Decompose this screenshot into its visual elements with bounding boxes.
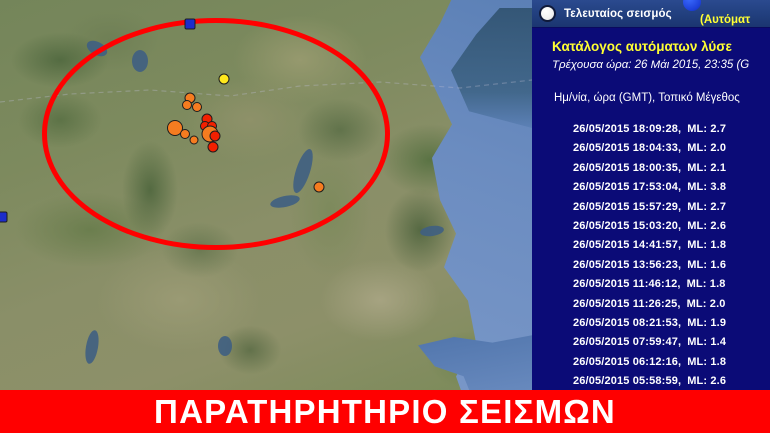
quake-datetime: 26/05/2015 06:12:16, bbox=[573, 356, 681, 368]
quake-list-item[interactable]: 26/05/2015 05:58:59,ML: 2.6 bbox=[573, 372, 770, 390]
quake-magnitude: ML: 1.4 bbox=[687, 336, 726, 348]
quake-magnitude: ML: 3.8 bbox=[687, 181, 726, 193]
last-quake-radio-icon[interactable] bbox=[539, 5, 556, 22]
quake-list[interactable]: 26/05/2015 18:09:28,ML: 2.726/05/2015 18… bbox=[532, 120, 770, 390]
quake-datetime: 26/05/2015 15:57:29, bbox=[573, 201, 681, 213]
quake-marker-orange-6[interactable] bbox=[190, 136, 199, 145]
quake-marker-orange-5[interactable] bbox=[180, 129, 190, 139]
quake-datetime: 26/05/2015 11:46:12, bbox=[573, 278, 681, 290]
quake-datetime: 26/05/2015 17:53:04, bbox=[573, 181, 681, 193]
quake-datetime: 26/05/2015 05:58:59, bbox=[573, 375, 681, 387]
quake-marker-blue-north[interactable] bbox=[185, 19, 196, 30]
quake-list-item[interactable]: 26/05/2015 18:00:35,ML: 2.1 bbox=[573, 159, 770, 178]
quake-list-item[interactable]: 26/05/2015 18:04:33,ML: 2.0 bbox=[573, 139, 770, 158]
quake-marker-orange-3[interactable] bbox=[192, 102, 202, 112]
panel-title: Κατάλογος αυτόματων λύσε bbox=[532, 39, 770, 54]
quake-marker-blue-west-edge[interactable] bbox=[0, 212, 8, 223]
quake-marker-orange-8[interactable] bbox=[314, 182, 325, 193]
quake-marker-red-4[interactable] bbox=[210, 131, 221, 142]
quake-list-item[interactable]: 26/05/2015 14:41:57,ML: 1.8 bbox=[573, 236, 770, 255]
quake-marker-red-5[interactable] bbox=[208, 142, 219, 153]
quake-list-item[interactable]: 26/05/2015 07:59:47,ML: 1.4 bbox=[573, 333, 770, 352]
seismic-observatory-screen: Τελευταίος σεισμός (Αυτόματ Κατάλογος αυ… bbox=[0, 0, 770, 433]
quake-datetime: 26/05/2015 08:21:53, bbox=[573, 317, 681, 329]
quake-list-item[interactable]: 26/05/2015 17:53:04,ML: 3.8 bbox=[573, 178, 770, 197]
automatic-label: (Αυτόματ bbox=[700, 14, 750, 26]
bottom-banner: ΠΑΡΑΤΗΡΗΤΗΡΙΟ ΣΕΙΣΜΩΝ bbox=[0, 390, 770, 433]
quake-magnitude: ML: 1.8 bbox=[687, 356, 726, 368]
quake-datetime: 26/05/2015 11:26:25, bbox=[573, 298, 681, 310]
quake-datetime: 26/05/2015 18:00:35, bbox=[573, 162, 681, 174]
quake-magnitude: ML: 2.7 bbox=[687, 201, 726, 213]
quake-list-item[interactable]: 26/05/2015 18:09:28,ML: 2.7 bbox=[573, 120, 770, 139]
quake-marker-yellow[interactable] bbox=[219, 74, 230, 85]
quake-magnitude: ML: 1.9 bbox=[687, 317, 726, 329]
quake-datetime: 26/05/2015 07:59:47, bbox=[573, 336, 681, 348]
list-column-header: Ημ/νία, ώρα (GMT), Τοπικό Μέγεθος bbox=[532, 92, 770, 104]
quake-list-item[interactable]: 26/05/2015 06:12:16,ML: 1.8 bbox=[573, 353, 770, 372]
quake-magnitude: ML: 2.0 bbox=[687, 298, 726, 310]
quake-magnitude: ML: 1.8 bbox=[687, 278, 726, 290]
quake-magnitude: ML: 1.6 bbox=[687, 259, 726, 271]
quake-datetime: 26/05/2015 13:56:23, bbox=[573, 259, 681, 271]
quake-list-item[interactable]: 26/05/2015 13:56:23,ML: 1.6 bbox=[573, 256, 770, 275]
quake-datetime: 26/05/2015 15:03:20, bbox=[573, 220, 681, 232]
quake-magnitude: ML: 2.0 bbox=[687, 142, 726, 154]
current-time-text: Τρέχουσα ώρα: 26 Μάι 2015, 23:35 (G bbox=[532, 59, 770, 71]
quake-magnitude: ML: 1.8 bbox=[687, 239, 726, 251]
quake-magnitude: ML: 2.7 bbox=[687, 123, 726, 135]
panel-header: Τελευταίος σεισμός (Αυτόματ bbox=[532, 0, 770, 28]
quake-marker-orange-2[interactable] bbox=[182, 100, 192, 110]
banner-title: ΠΑΡΑΤΗΡΗΤΗΡΙΟ ΣΕΙΣΜΩΝ bbox=[154, 395, 616, 428]
satellite-terrain-map[interactable] bbox=[0, 0, 532, 390]
lake-6 bbox=[218, 336, 232, 356]
quake-list-item[interactable]: 26/05/2015 11:26:25,ML: 2.0 bbox=[573, 295, 770, 314]
last-quake-label: Τελευταίος σεισμός bbox=[564, 8, 672, 20]
quake-list-item[interactable]: 26/05/2015 15:03:20,ML: 2.6 bbox=[573, 217, 770, 236]
quake-list-item[interactable]: 26/05/2015 15:57:29,ML: 2.7 bbox=[573, 198, 770, 217]
quake-magnitude: ML: 2.6 bbox=[687, 375, 726, 387]
quake-magnitude: ML: 2.1 bbox=[687, 162, 726, 174]
blue-circle-icon bbox=[683, 0, 701, 11]
quake-datetime: 26/05/2015 18:09:28, bbox=[573, 123, 681, 135]
quake-list-item[interactable]: 26/05/2015 08:21:53,ML: 1.9 bbox=[573, 314, 770, 333]
quake-magnitude: ML: 2.6 bbox=[687, 220, 726, 232]
quake-datetime: 26/05/2015 18:04:33, bbox=[573, 142, 681, 154]
automatic-solutions-panel: Τελευταίος σεισμός (Αυτόματ Κατάλογος αυ… bbox=[532, 0, 770, 390]
quake-list-item[interactable]: 26/05/2015 11:46:12,ML: 1.8 bbox=[573, 275, 770, 294]
quake-datetime: 26/05/2015 14:41:57, bbox=[573, 239, 681, 251]
